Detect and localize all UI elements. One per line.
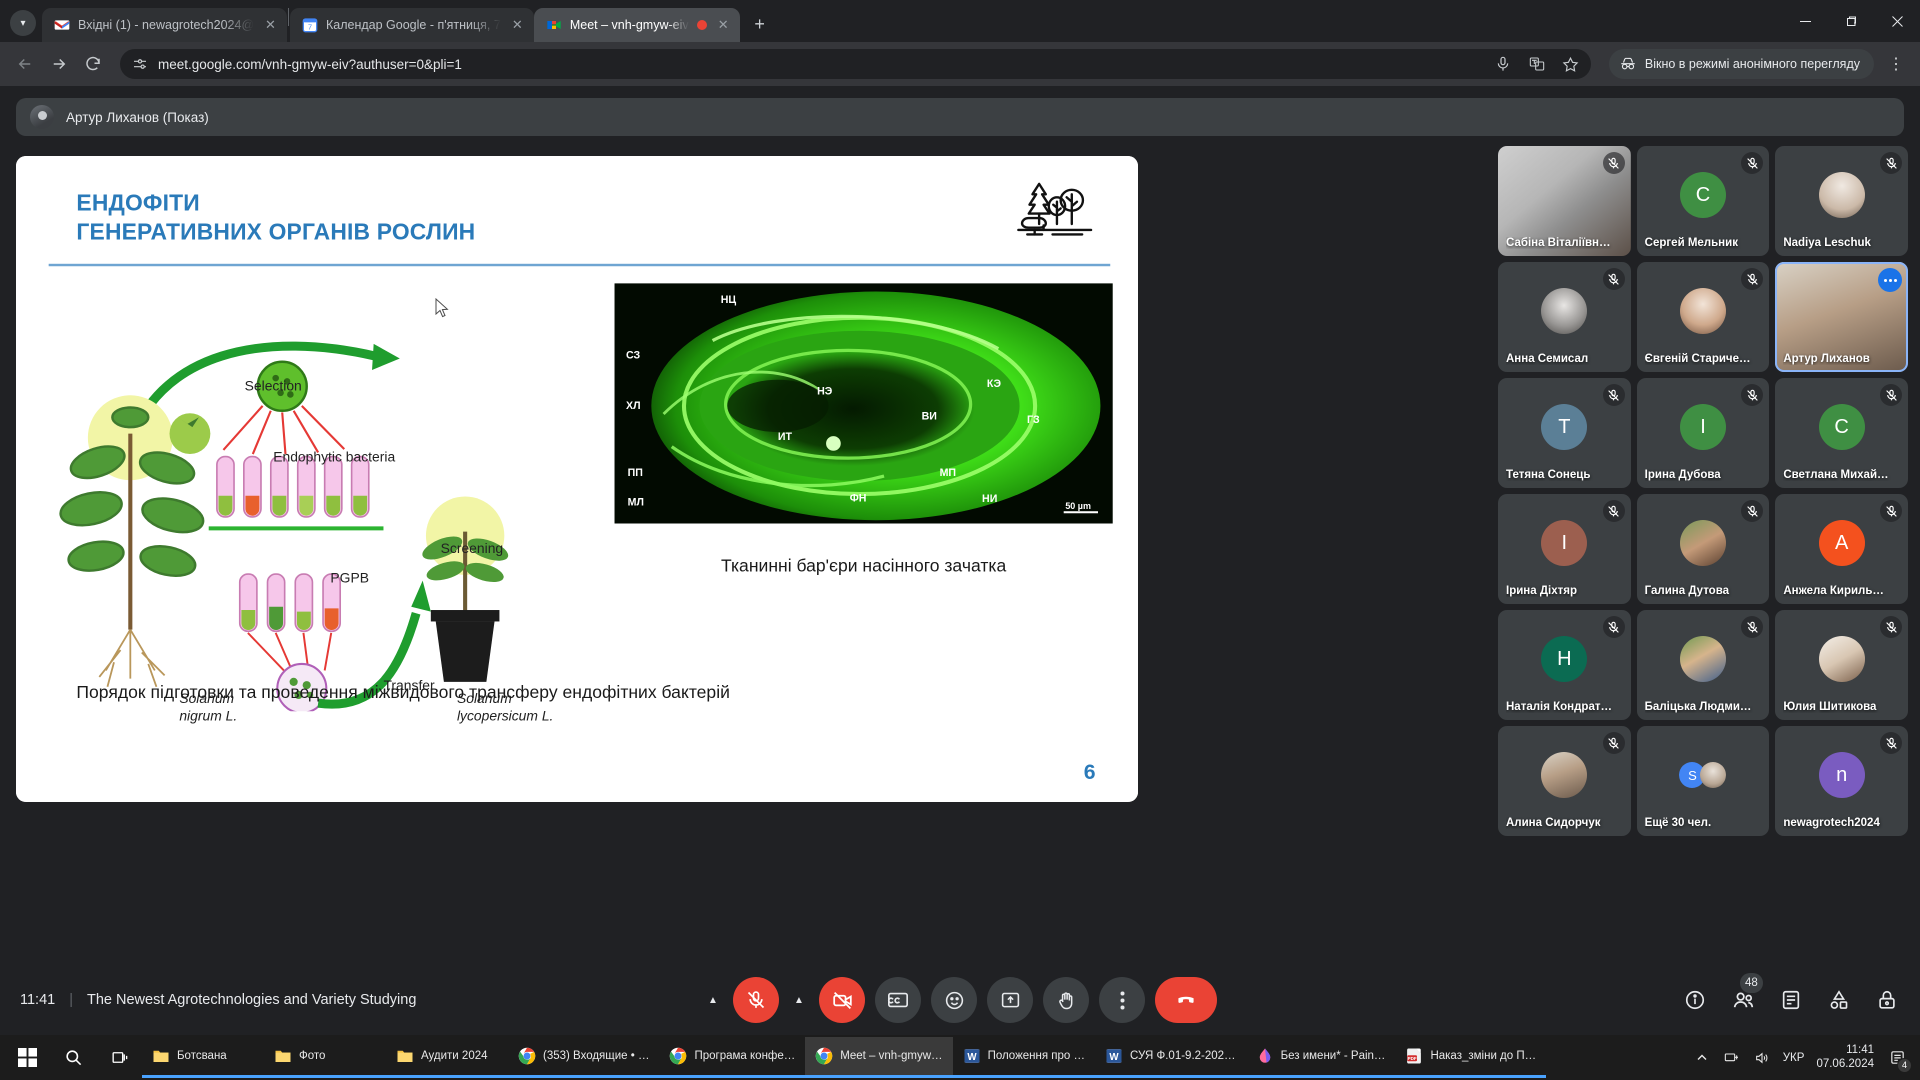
participant-tile[interactable]: Анна Семисал — [1498, 262, 1631, 372]
tray-expand-icon[interactable] — [1693, 1049, 1711, 1067]
mic-off-icon — [1880, 616, 1902, 638]
mic-off-icon — [1880, 732, 1902, 754]
close-icon[interactable]: ✕ — [262, 17, 279, 34]
svg-text:W: W — [967, 1052, 977, 1063]
participant-name: Ірина Діхтяр — [1506, 585, 1623, 597]
mic-off-icon — [1603, 152, 1625, 174]
url-text: meet.google.com/vnh-gmyw-eiv?authuser=0&… — [158, 57, 462, 72]
avatar: n — [1819, 752, 1865, 798]
participant-name: Ірина Дубова — [1645, 469, 1762, 481]
participant-name: Тетяна Сонець — [1506, 469, 1623, 481]
meet-page: Артур Лиханов (Показ) ЕНДОФІТИ ГЕНЕРАТИВ… — [0, 86, 1920, 1035]
taskbar-item-label: Програма конфе… — [694, 1050, 795, 1062]
word-icon: W — [1105, 1047, 1123, 1065]
camera-button[interactable] — [819, 977, 865, 1023]
windows-taskbar: БотсванаФотоАудити 2024(353) Входящие • … — [0, 1035, 1920, 1080]
participant-tile[interactable]: Баліцька Людми… — [1637, 610, 1770, 720]
close-window-button[interactable] — [1874, 0, 1920, 42]
participant-tile[interactable]: TТетяна Сонець — [1498, 378, 1631, 488]
system-tray: УКР 11:41 07.06.2024 4 — [1693, 1044, 1916, 1072]
tab-title: Вхідні (1) - newagrotech2024@ — [78, 18, 254, 32]
incognito-icon — [1619, 55, 1637, 73]
participant-tile[interactable]: Євгеній Старичe… — [1637, 262, 1770, 372]
browser-tab-meet[interactable]: Meet – vnh-gmyw-eiv ✕ — [534, 8, 740, 42]
participant-name: Алина Сидорчук — [1506, 817, 1623, 829]
clock-date: 07.06.2024 — [1816, 1058, 1874, 1072]
paint-icon — [1256, 1047, 1274, 1065]
address-bar[interactable]: meet.google.com/vnh-gmyw-eiv?authuser=0&… — [120, 49, 1591, 79]
presenter-name: Артур Лиханов (Показ) — [66, 110, 209, 125]
raise-hand-button[interactable] — [1043, 977, 1089, 1023]
mic-off-icon — [1741, 500, 1763, 522]
notification-center-button[interactable]: 4 — [1886, 1047, 1908, 1069]
micrograph-label: КЭ — [987, 378, 1002, 390]
folder-icon — [396, 1047, 414, 1065]
participant-name: newagrotech2024 — [1783, 817, 1900, 829]
volume-icon[interactable] — [1753, 1049, 1771, 1067]
presenter-banner: Артур Лиханов (Показ) — [16, 98, 1904, 136]
close-icon[interactable]: ✕ — [509, 17, 526, 34]
folder-icon — [152, 1047, 170, 1065]
pdf-icon: PDF — [1405, 1047, 1423, 1065]
participant-tile[interactable]: Юлия Шитикова — [1775, 610, 1908, 720]
figure-label: Selection — [245, 378, 302, 394]
host-controls-button[interactable] — [1874, 987, 1900, 1013]
taskbar-item-label: Аудити 2024 — [421, 1050, 488, 1062]
figure-label: PGPB — [330, 570, 369, 586]
mic-button[interactable] — [733, 977, 779, 1023]
mic-off-icon — [1741, 616, 1763, 638]
taskbar-item-label: Фото — [299, 1050, 325, 1062]
participant-tile[interactable]: HНаталія Кондрат… — [1498, 610, 1631, 720]
task-view-icon[interactable] — [96, 1035, 142, 1080]
micrograph-label: ФН — [850, 492, 867, 504]
word-icon: W — [963, 1047, 981, 1065]
micrograph-label: ХЛ — [626, 400, 641, 412]
tab-divider — [288, 8, 289, 26]
window-controls — [1782, 0, 1920, 42]
tab-strip: ▾ Вхідні (1) - newagrotech2024@ ✕ 7 Кале… — [0, 0, 1920, 42]
call-controls: ▲ ▲ — [703, 977, 1217, 1023]
slide-bottom-caption: Порядок підготовки та проведення міжвидо… — [76, 683, 1089, 703]
gcal-icon: 7 — [302, 17, 318, 33]
micrograph-label: СЗ — [626, 350, 641, 362]
participant-name: Баліцька Людми… — [1645, 701, 1762, 713]
tab-title: Meet – vnh-gmyw-eiv — [570, 18, 689, 32]
search-icon[interactable] — [50, 1035, 96, 1080]
taskbar-item[interactable]: (353) Входящие • … — [508, 1037, 659, 1078]
participant-name: Ещё 30 чел. — [1645, 817, 1762, 829]
micrograph-label: ГЗ — [1027, 414, 1040, 426]
figure-label: nigrum L. — [179, 708, 237, 724]
folder-icon — [274, 1047, 292, 1065]
incognito-label: Вікно в режимі анонімного перегляду — [1645, 57, 1860, 71]
avatar: C — [1680, 172, 1726, 218]
taskbar-item-label: Положення про … — [988, 1050, 1085, 1062]
mic-off-icon — [1603, 384, 1625, 406]
micrograph-caption: Тканинні бар'єри насінного зачатка — [615, 556, 1113, 576]
micrograph-label: ИТ — [778, 431, 793, 443]
presenter-avatar — [30, 105, 54, 129]
gmail-icon — [54, 17, 70, 33]
figure-label: lycopersicum L. — [457, 708, 553, 724]
participant-name: Галина Дутова — [1645, 585, 1762, 597]
chrome-icon — [518, 1047, 536, 1065]
avatar: A — [1819, 520, 1865, 566]
participant-name: Сабіна Віталіївн… — [1506, 237, 1623, 249]
participant-tile[interactable]: nnewagrotech2024 — [1775, 726, 1908, 836]
participant-name: Светлана Михай… — [1783, 469, 1900, 481]
avatar: C — [1819, 404, 1865, 450]
figure-label: Endophytic bacteria — [273, 449, 395, 465]
participant-tile[interactable]: CСветлана Михай… — [1775, 378, 1908, 488]
mic-off-icon — [1603, 732, 1625, 754]
figure-graphic — [49, 287, 612, 712]
meet-control-bar: 11:41 | The Newest Agrotechnologies and … — [0, 965, 1920, 1035]
micrograph-label: НЭ — [817, 385, 833, 397]
camera-options-chevron-icon[interactable]: ▲ — [789, 980, 809, 1020]
taskbar-items: БотсванаФотоАудити 2024(353) Входящие • … — [142, 1037, 1546, 1078]
avatar — [1541, 752, 1587, 798]
participant-name: Євгеній Старичe… — [1645, 353, 1762, 365]
browser-tab-calendar[interactable]: 7 Календар Google - п'ятниця, 7 ✕ — [290, 8, 534, 42]
back-button[interactable] — [10, 49, 40, 79]
bookmark-star-icon[interactable] — [1561, 54, 1581, 74]
micrograph-image: НЦСЗХЛППМЛНЭИТВИКЭГЗМПФННИ 50 µm — [615, 283, 1113, 523]
taskbar-item[interactable]: Без имени* - Pain… — [1246, 1037, 1396, 1078]
forward-button[interactable] — [44, 49, 74, 79]
taskbar-item[interactable]: PDFНаказ_зміни до П… — [1395, 1037, 1546, 1078]
overflow-avatars: S — [1679, 752, 1726, 798]
participant-name: Анна Семисал — [1506, 353, 1623, 365]
browser-window: ▾ Вхідні (1) - newagrotech2024@ ✕ 7 Кале… — [0, 0, 1920, 1035]
svg-text:PDF: PDF — [1408, 1056, 1417, 1061]
people-button[interactable]: 48 — [1730, 987, 1756, 1013]
meet-icon — [546, 17, 562, 33]
mic-off-icon — [1603, 500, 1625, 522]
avatar — [1819, 172, 1865, 218]
avatar — [1680, 520, 1726, 566]
word-icon: W — [1105, 1047, 1123, 1065]
participant-name: Артур Лиханов — [1783, 353, 1900, 365]
figure-label: Screening — [441, 541, 504, 557]
captions-button[interactable] — [875, 977, 921, 1023]
slide-title-rule — [49, 264, 1111, 266]
separator: | — [69, 992, 73, 1008]
meet-right-controls: 48 — [1682, 987, 1900, 1013]
avatar: I — [1680, 404, 1726, 450]
mic-off-icon — [1880, 152, 1902, 174]
participant-tile[interactable]: Артур Лиханов — [1775, 262, 1908, 372]
word-icon: W — [963, 1047, 981, 1065]
people-count-badge: 48 — [1740, 973, 1763, 993]
chrome-icon — [669, 1047, 687, 1065]
reload-button[interactable] — [78, 49, 108, 79]
clock[interactable]: 11:41 07.06.2024 — [1816, 1044, 1874, 1072]
tile-options-button[interactable] — [1878, 268, 1902, 292]
participant-tile[interactable]: SЕщё 30 чел. — [1637, 726, 1770, 836]
taskbar-item[interactable]: WПоложення про … — [953, 1037, 1095, 1078]
mic-off-icon — [1741, 268, 1763, 290]
browser-menu-button[interactable]: ⋮ — [1882, 50, 1910, 78]
new-tab-button[interactable]: + — [746, 10, 774, 38]
paint-icon — [1256, 1047, 1274, 1065]
avatar — [1541, 288, 1587, 334]
meeting-info: 11:41 | The Newest Agrotechnologies and … — [20, 992, 416, 1008]
incognito-indicator[interactable]: Вікно в режимі анонімного перегляду — [1609, 49, 1874, 79]
folder-icon — [396, 1047, 414, 1065]
forest-logo-icon — [1014, 177, 1096, 242]
taskbar-item[interactable]: Фото — [264, 1037, 386, 1078]
taskbar-item-label: (353) Входящие • … — [543, 1050, 649, 1062]
chrome-icon — [815, 1047, 833, 1065]
start-button[interactable] — [4, 1035, 50, 1080]
meeting-title: The Newest Agrotechnologies and Variety … — [87, 992, 416, 1008]
scale-bar-text: 50 µm — [1065, 501, 1091, 511]
taskbar-item[interactable]: Програма конфе… — [659, 1037, 805, 1078]
mic-off-icon — [1741, 152, 1763, 174]
taskbar-item-label: Наказ_зміни до П… — [1430, 1050, 1536, 1062]
participant-tile[interactable]: IІрина Діхтяр — [1498, 494, 1631, 604]
participant-tile[interactable]: CСергей Мельник — [1637, 146, 1770, 256]
leave-call-button[interactable] — [1155, 977, 1217, 1023]
taskbar-item[interactable]: WСУЯ Ф.01-9.2-202… — [1095, 1037, 1246, 1078]
tab-search-chevron-icon[interactable]: ▾ — [10, 10, 36, 36]
avatar: I — [1541, 520, 1587, 566]
avatar — [1819, 636, 1865, 682]
mic-off-icon — [1603, 616, 1625, 638]
shared-slide[interactable]: ЕНДОФІТИ ГЕНЕРАТИВНИХ ОРГАНІВ РОСЛИН — [16, 156, 1138, 802]
slide-title: ЕНДОФІТИ ГЕНЕРАТИВНИХ ОРГАНІВ РОСЛИН — [76, 189, 811, 247]
mic-off-icon — [1741, 384, 1763, 406]
mic-options-chevron-icon[interactable]: ▲ — [703, 980, 723, 1020]
taskbar-item-label: СУЯ Ф.01-9.2-202… — [1130, 1050, 1236, 1062]
meeting-details-button[interactable] — [1682, 987, 1708, 1013]
browser-tab-gmail[interactable]: Вхідні (1) - newagrotech2024@ ✕ — [42, 8, 287, 42]
close-icon[interactable]: ✕ — [715, 17, 732, 34]
micrograph-label: МЛ — [628, 497, 644, 509]
avatar: T — [1541, 404, 1587, 450]
svg-text:W: W — [1109, 1052, 1119, 1063]
participant-tile[interactable]: IІрина Дубова — [1637, 378, 1770, 488]
participant-tile[interactable]: AАнжела Кириль… — [1775, 494, 1908, 604]
participant-grid: Сабіна Віталіївн…CСергей МельникNadiya L… — [1498, 146, 1908, 965]
browser-toolbar: meet.google.com/vnh-gmyw-eiv?authuser=0&… — [0, 42, 1920, 86]
tab-title: Календар Google - п'ятниця, 7 — [326, 18, 501, 32]
avatar: H — [1541, 636, 1587, 682]
participant-tile[interactable]: Алина Сидорчук — [1498, 726, 1631, 836]
micrograph-label: НИ — [982, 493, 997, 505]
avatar — [1680, 636, 1726, 682]
site-settings-icon[interactable] — [132, 56, 148, 72]
participant-tile[interactable]: Галина Дутова — [1637, 494, 1770, 604]
avatar — [1680, 288, 1726, 334]
micrograph-graphic: НЦСЗХЛППМЛНЭИТВИКЭГЗМПФННИ 50 µm — [615, 283, 1113, 523]
micrograph-label: НЦ — [721, 294, 737, 306]
micrograph-label: ПП — [628, 467, 643, 479]
participant-name: Юлия Шитикова — [1783, 701, 1900, 713]
participant-name: Nadiya Leschuk — [1783, 237, 1900, 249]
notification-count: 4 — [1897, 1058, 1912, 1073]
voice-search-icon[interactable] — [1493, 54, 1513, 74]
maximize-button[interactable] — [1828, 0, 1874, 42]
present-button[interactable] — [987, 977, 1033, 1023]
taskbar-item-label: Без имени* - Pain… — [1281, 1050, 1386, 1062]
participant-name: Сергей Мельник — [1645, 237, 1762, 249]
taskbar-item-label: Meet – vnh-gmyw… — [840, 1050, 942, 1062]
micrograph-label: МП — [940, 467, 956, 479]
svg-text:7: 7 — [308, 23, 312, 32]
micrograph-label: ВИ — [922, 411, 937, 423]
omnibox-actions — [1493, 54, 1581, 74]
taskbar-item[interactable]: Ботсвана — [142, 1037, 264, 1078]
chrome-icon — [669, 1047, 687, 1065]
folder-icon — [152, 1047, 170, 1065]
mic-off-icon — [1880, 384, 1902, 406]
taskbar-item[interactable]: Meet – vnh-gmyw… — [805, 1037, 952, 1078]
taskbar-item-label: Ботсвана — [177, 1050, 227, 1062]
recording-indicator-icon — [697, 20, 707, 30]
network-icon[interactable] — [1723, 1049, 1741, 1067]
minimize-button[interactable] — [1782, 0, 1828, 42]
reactions-button[interactable] — [931, 977, 977, 1023]
mic-off-icon — [1603, 268, 1625, 290]
participant-tile[interactable]: Nadiya Leschuk — [1775, 146, 1908, 256]
chrome-icon — [518, 1047, 536, 1065]
pdf-icon: PDF — [1405, 1047, 1423, 1065]
folder-icon — [274, 1047, 292, 1065]
participant-tile[interactable]: Сабіна Віталіївн… — [1498, 146, 1631, 256]
meeting-time: 11:41 — [20, 992, 55, 1008]
clock-time: 11:41 — [1816, 1044, 1874, 1058]
taskbar-item[interactable]: Аудити 2024 — [386, 1037, 508, 1078]
chat-button[interactable] — [1778, 987, 1804, 1013]
translate-icon[interactable] — [1527, 54, 1547, 74]
participant-name: Анжела Кириль… — [1783, 585, 1900, 597]
language-indicator[interactable]: УКР — [1783, 1052, 1805, 1064]
chrome-icon — [815, 1047, 833, 1065]
slide-page-number: 6 — [1084, 759, 1096, 784]
mic-off-icon — [1880, 500, 1902, 522]
activities-button[interactable] — [1826, 987, 1852, 1013]
endophyte-transfer-figure: SelectionEndophytic bacteriaScreeningPGP… — [49, 287, 612, 712]
participant-name: Наталія Кондрат… — [1506, 701, 1623, 713]
more-options-button[interactable] — [1099, 977, 1145, 1023]
